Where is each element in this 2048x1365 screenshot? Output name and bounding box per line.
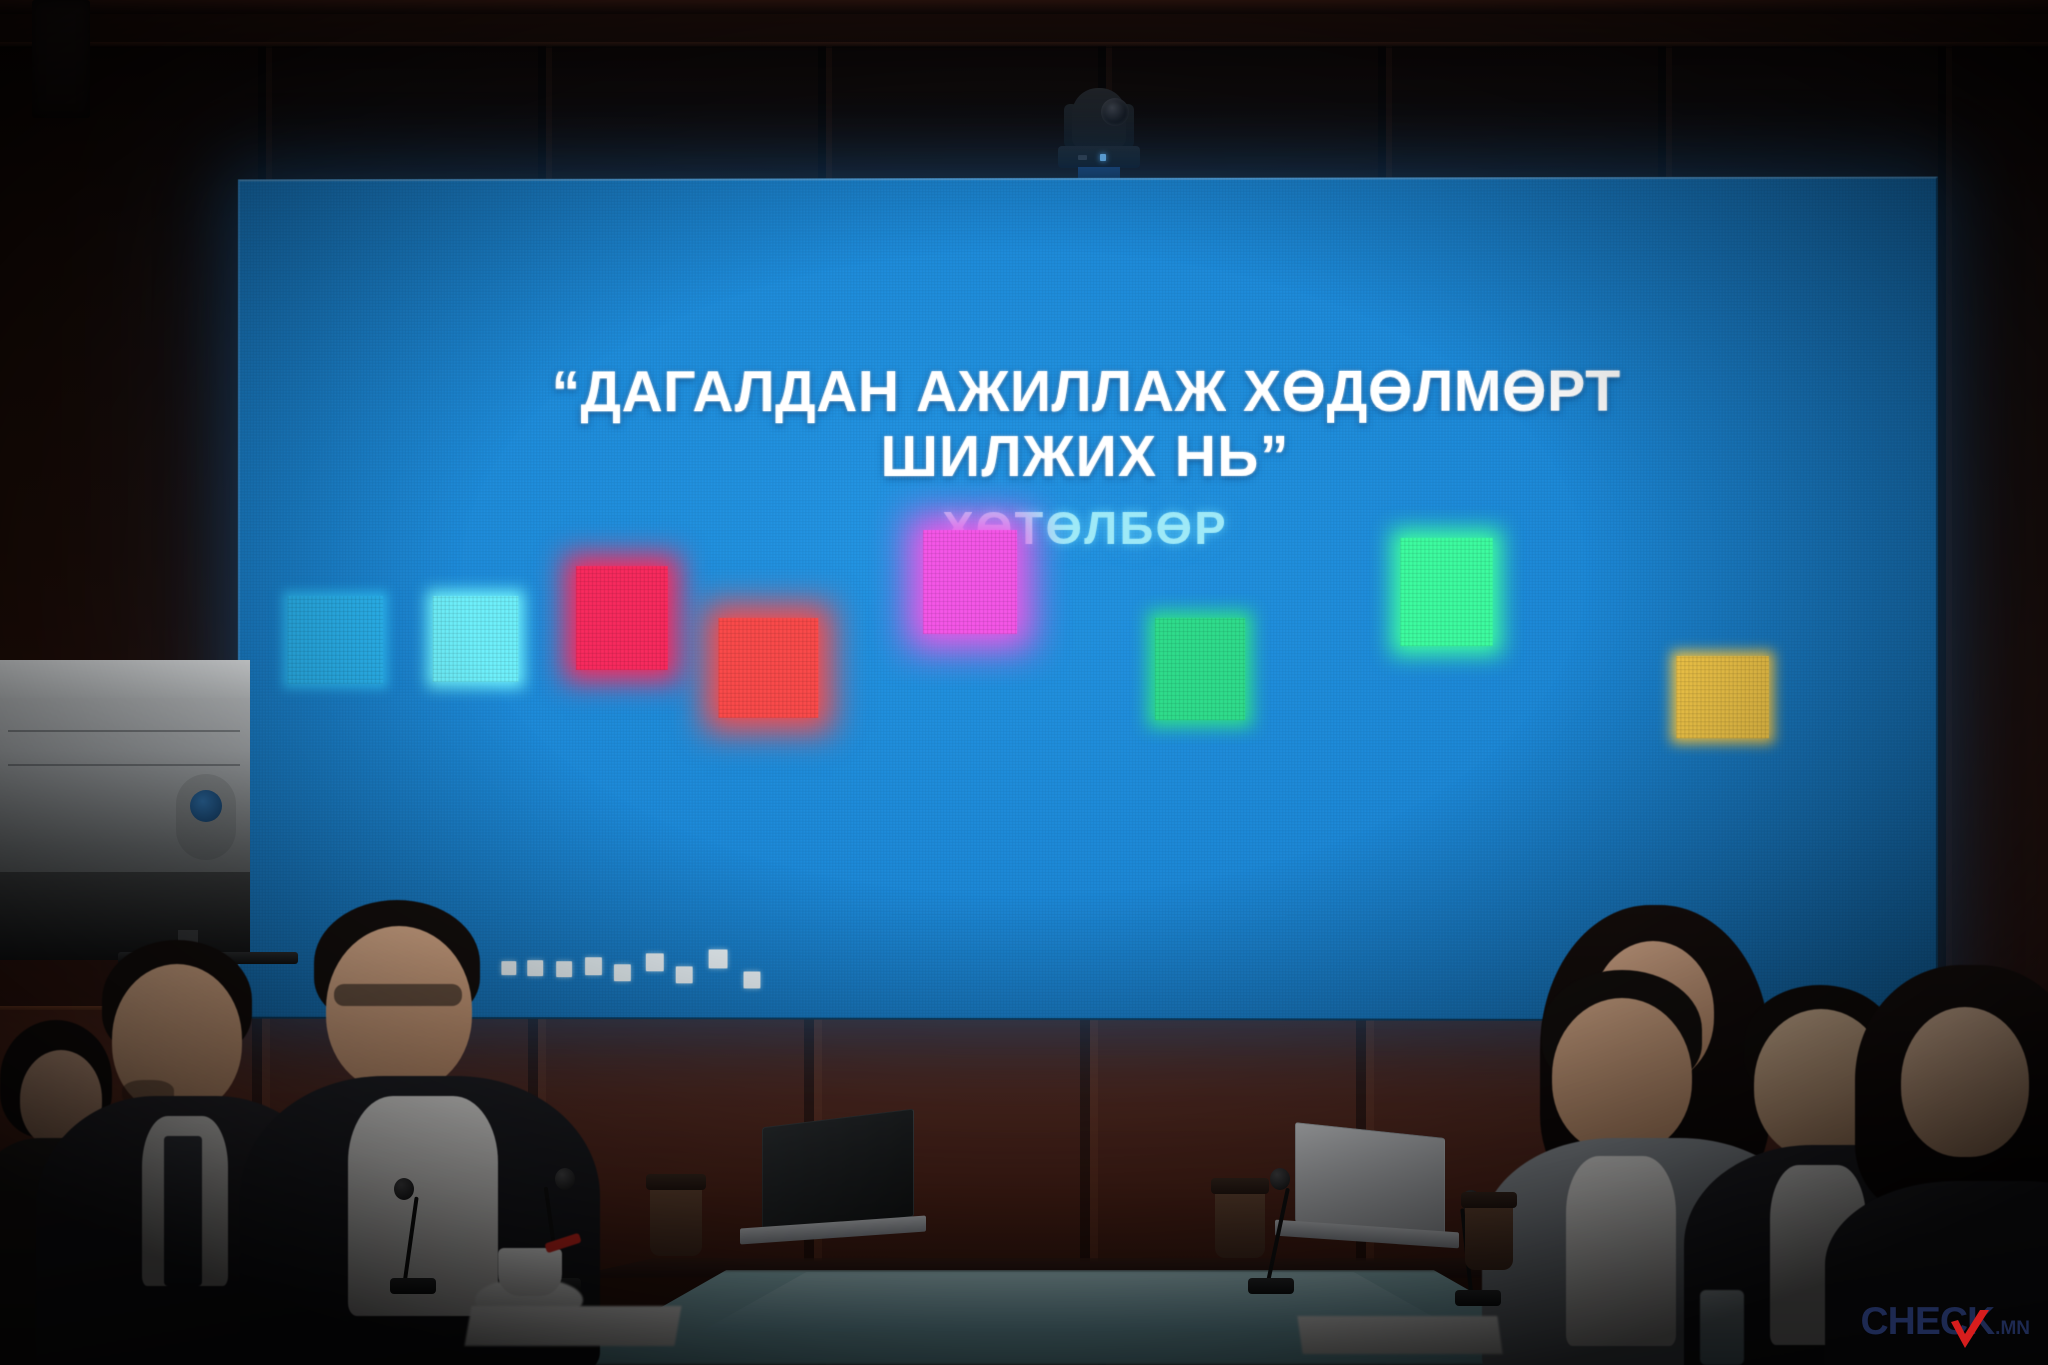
camera-head (1072, 88, 1126, 148)
purifier-top-panel (0, 660, 250, 698)
microphone-head-icon (394, 1178, 414, 1200)
purifier-dial-knob-icon[interactable] (190, 790, 222, 822)
microphone-stem (1266, 1188, 1290, 1283)
coffee-cup-right-1[interactable] (1215, 1186, 1265, 1258)
laptop-left[interactable] (740, 1118, 920, 1248)
purifier-dial[interactable] (176, 774, 236, 860)
microphone-1[interactable] (390, 1178, 450, 1298)
wall-top-molding (0, 0, 2048, 14)
led-presentation-screen[interactable]: “ДАГАЛДАН АЖИЛЛАЖ ХӨДӨЛМӨРТ ШИЛЖИХ НЬ” Х… (238, 177, 1938, 1022)
screen-bezel (238, 177, 1938, 1022)
camera-ir-sensor-icon (1078, 155, 1087, 160)
wall-top-molding-2 (0, 42, 2048, 48)
attendee-head (1552, 998, 1692, 1154)
attendee-head (326, 926, 472, 1092)
teacup[interactable] (498, 1248, 562, 1296)
attendee-tie (164, 1136, 202, 1286)
ptz-camera (1056, 88, 1142, 184)
cup-lid (646, 1174, 706, 1190)
cup-lid (1211, 1178, 1269, 1194)
laptop-screen[interactable] (1295, 1122, 1445, 1238)
camera-lens-icon (1101, 98, 1129, 126)
purifier-seam (8, 730, 240, 732)
microphone-base[interactable] (1248, 1278, 1294, 1294)
coffee-cup-right-2[interactable] (1465, 1200, 1513, 1270)
ceiling-speaker (32, 0, 90, 118)
papers-right[interactable] (1297, 1316, 1502, 1354)
attendee-head (1901, 1007, 2029, 1157)
water-bottle[interactable] (1700, 1290, 1744, 1365)
check-tick-icon (1947, 1308, 1993, 1354)
attendee-glasses-icon (334, 984, 462, 1006)
camera-base (1058, 146, 1140, 168)
conference-room-scene: “ДАГАЛДАН АЖИЛЛАЖ ХӨДӨЛМӨРТ ШИЛЖИХ НЬ” Х… (0, 0, 2048, 1365)
watermark-check-mn: CHECK .MN (1862, 1293, 2030, 1351)
microphone-stem (403, 1197, 419, 1281)
laptop-screen[interactable] (762, 1109, 914, 1236)
purifier-seam (8, 764, 240, 766)
air-purifier-unit (0, 660, 250, 960)
attendee-shirt (1566, 1156, 1676, 1346)
microphone-base[interactable] (1455, 1290, 1501, 1306)
microphone-head-icon (1270, 1168, 1290, 1190)
microphone-head-icon (555, 1168, 575, 1190)
camera-status-led-icon (1100, 154, 1106, 161)
microphone-base[interactable] (390, 1278, 436, 1294)
cup-lid (1461, 1192, 1517, 1208)
papers-left[interactable] (464, 1306, 681, 1346)
watermark-domain: .MN (1995, 1318, 2030, 1340)
coffee-cup-left[interactable] (650, 1182, 702, 1256)
